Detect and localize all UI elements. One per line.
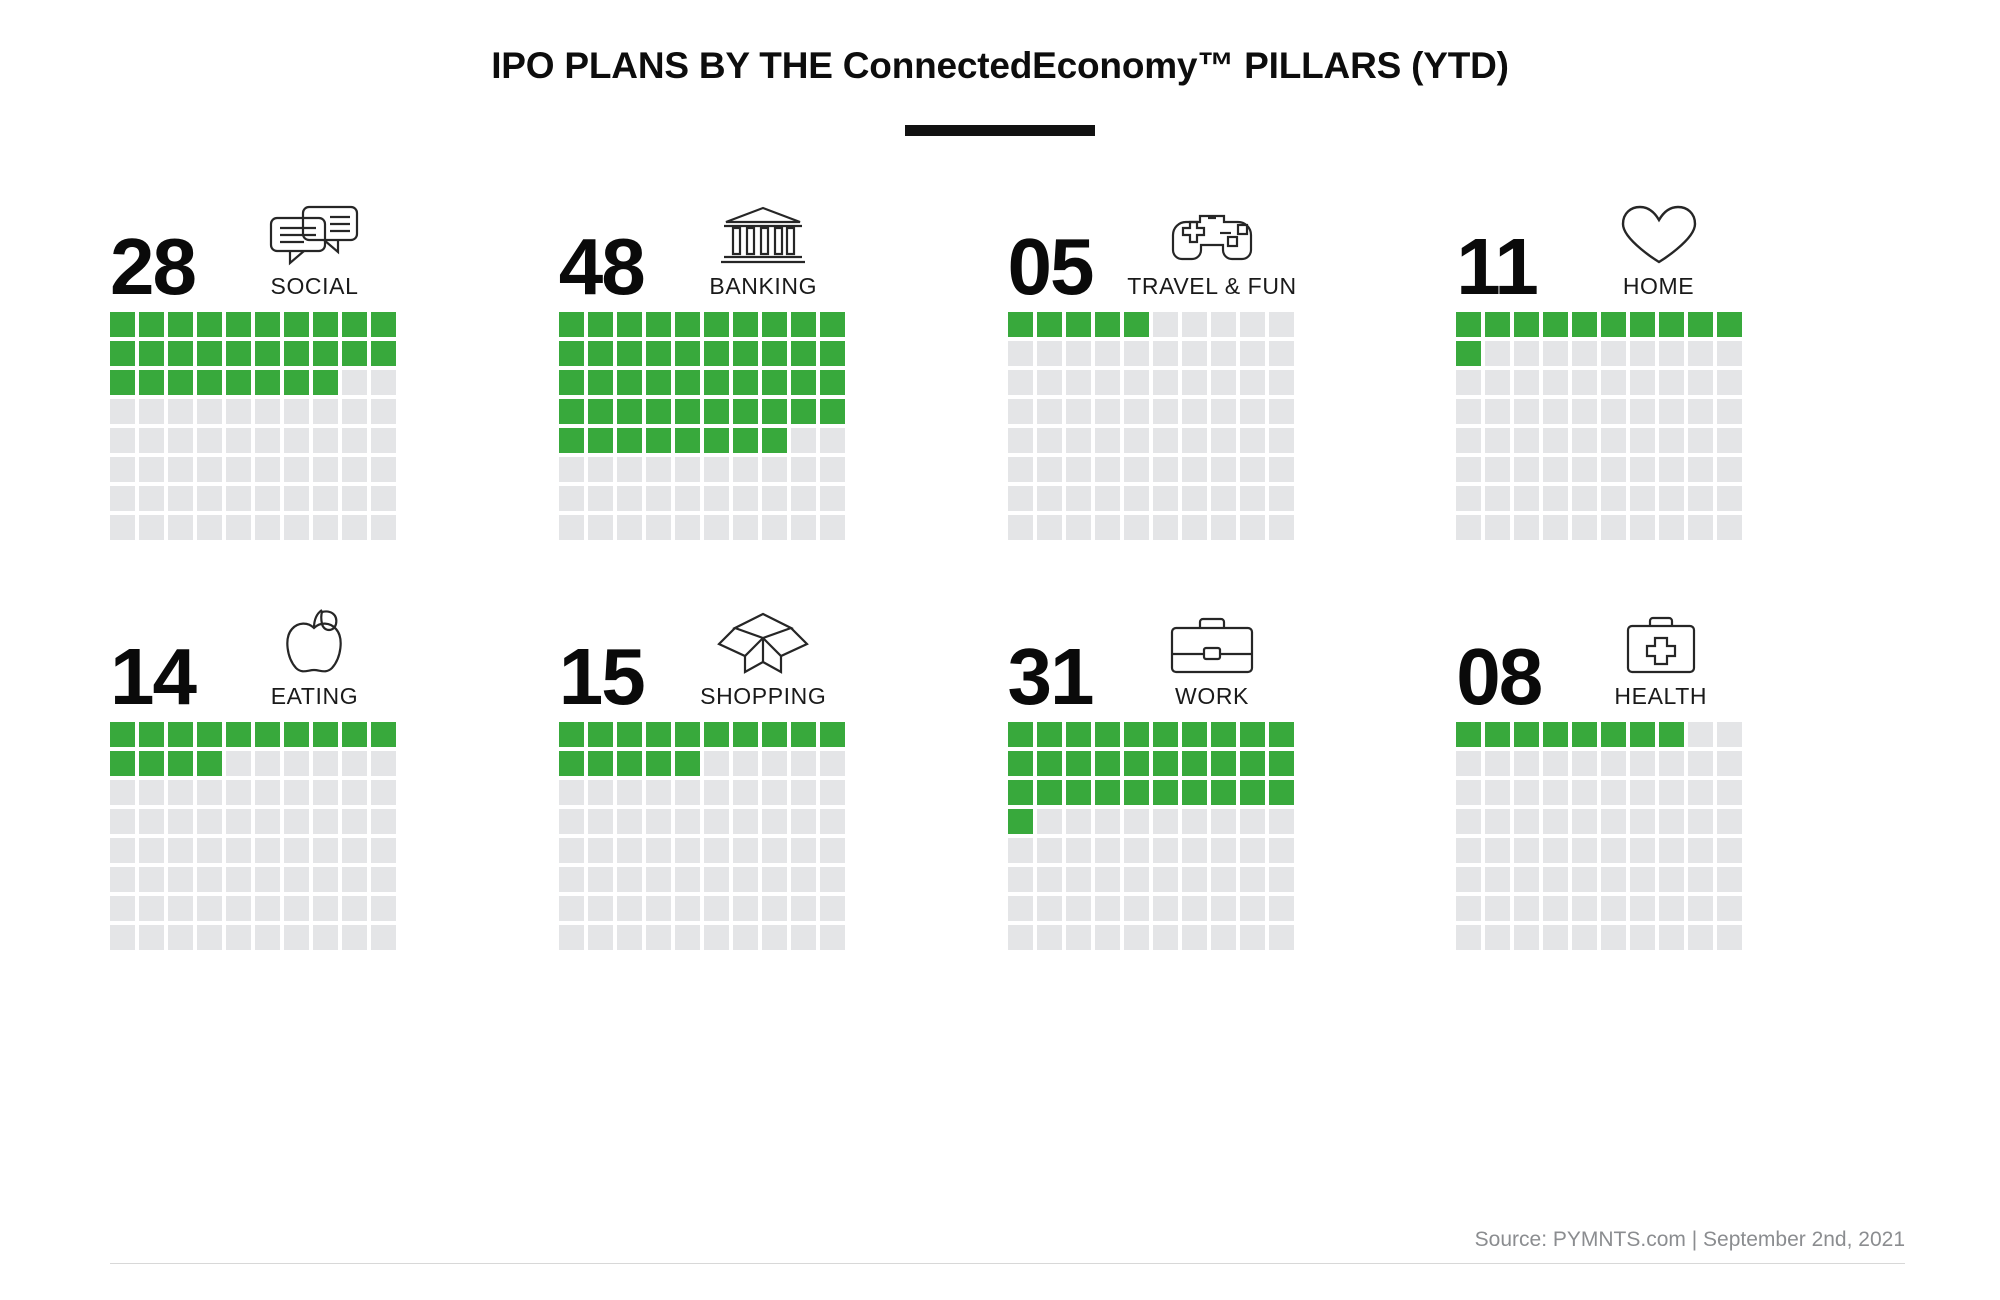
- waffle-cell-empty: [313, 751, 338, 776]
- waffle-cell-empty: [1269, 370, 1294, 395]
- waffle-cell-empty: [1095, 457, 1120, 482]
- waffle-cell-filled: [255, 370, 280, 395]
- waffle-cell-empty: [1456, 751, 1481, 776]
- waffle-cell-filled: [733, 399, 758, 424]
- waffle-cell-empty: [733, 751, 758, 776]
- waffle-cell-empty: [313, 896, 338, 921]
- waffle-cell-filled: [762, 399, 787, 424]
- waffle-cell-empty: [284, 751, 309, 776]
- waffle-cell-filled: [1211, 780, 1236, 805]
- waffle-cell-empty: [1630, 428, 1655, 453]
- waffle-cell-empty: [1717, 780, 1742, 805]
- waffle-cell-empty: [342, 457, 367, 482]
- waffle-cell-empty: [1240, 399, 1265, 424]
- waffle-cell-empty: [1211, 515, 1236, 540]
- waffle-cell-empty: [226, 515, 251, 540]
- waffle-cell-empty: [1124, 457, 1149, 482]
- waffle-cell-empty: [255, 457, 280, 482]
- waffle-cell-empty: [762, 838, 787, 863]
- waffle-cell-empty: [1008, 341, 1033, 366]
- waffle-cell-filled: [559, 428, 584, 453]
- waffle-cell-filled: [1543, 722, 1568, 747]
- waffle-cell-empty: [1124, 428, 1149, 453]
- waffle-cell-filled: [1514, 312, 1539, 337]
- waffle-grid-work: [1008, 722, 1318, 950]
- waffle-cell-empty: [226, 867, 251, 892]
- bank-building-icon: [720, 204, 806, 266]
- waffle-cell-filled: [313, 722, 338, 747]
- waffle-cell-empty: [559, 780, 584, 805]
- waffle-cell-empty: [1153, 809, 1178, 834]
- waffle-cell-empty: [284, 780, 309, 805]
- waffle-cell-filled: [168, 370, 193, 395]
- waffle-cell-empty: [1008, 486, 1033, 511]
- waffle-cell-empty: [1543, 809, 1568, 834]
- waffle-cell-empty: [1688, 751, 1713, 776]
- panel-identity: BANKING: [658, 204, 869, 300]
- panel-identity: SHOPPING: [658, 614, 869, 710]
- waffle-cell-empty: [284, 486, 309, 511]
- waffle-cell-empty: [1124, 809, 1149, 834]
- waffle-cell-filled: [168, 751, 193, 776]
- waffle-cell-filled: [371, 312, 396, 337]
- waffle-cell-empty: [1153, 370, 1178, 395]
- waffle-cell-empty: [704, 457, 729, 482]
- waffle-cell-empty: [1095, 341, 1120, 366]
- waffle-cell-empty: [820, 809, 845, 834]
- waffle-cell-filled: [646, 751, 671, 776]
- waffle-cell-empty: [1037, 925, 1062, 950]
- waffle-cell-filled: [1572, 722, 1597, 747]
- waffle-cell-empty: [1269, 399, 1294, 424]
- waffle-cell-filled: [762, 341, 787, 366]
- waffle-cell-empty: [284, 457, 309, 482]
- waffle-cell-filled: [762, 370, 787, 395]
- pillar-panels: 28: [0, 136, 2000, 950]
- waffle-cell-filled: [371, 341, 396, 366]
- panel-header: 15 SHOPPING: [559, 594, 869, 710]
- waffle-cell-empty: [1456, 809, 1481, 834]
- waffle-cell-empty: [820, 486, 845, 511]
- waffle-cell-empty: [1066, 428, 1091, 453]
- waffle-cell-empty: [342, 896, 367, 921]
- waffle-cell-empty: [1124, 486, 1149, 511]
- waffle-cell-empty: [226, 838, 251, 863]
- waffle-cell-filled: [675, 428, 700, 453]
- waffle-cell-empty: [1514, 399, 1539, 424]
- waffle-cell-empty: [197, 809, 222, 834]
- waffle-grid-shopping: [559, 722, 869, 950]
- waffle-cell-filled: [1066, 780, 1091, 805]
- waffle-cell-empty: [1543, 780, 1568, 805]
- waffle-cell-empty: [371, 457, 396, 482]
- waffle-cell-filled: [791, 312, 816, 337]
- waffle-cell-filled: [646, 370, 671, 395]
- waffle-cell-empty: [1601, 838, 1626, 863]
- waffle-cell-empty: [226, 399, 251, 424]
- waffle-cell-empty: [1717, 370, 1742, 395]
- waffle-cell-filled: [559, 341, 584, 366]
- waffle-cell-empty: [1485, 341, 1510, 366]
- waffle-cell-filled: [1008, 751, 1033, 776]
- waffle-cell-empty: [1269, 515, 1294, 540]
- waffle-cell-empty: [1066, 370, 1091, 395]
- waffle-cell-filled: [646, 722, 671, 747]
- waffle-cell-empty: [1485, 515, 1510, 540]
- waffle-cell-empty: [1066, 896, 1091, 921]
- waffle-cell-empty: [342, 370, 367, 395]
- waffle-cell-empty: [1182, 370, 1207, 395]
- waffle-cell-filled: [675, 751, 700, 776]
- waffle-cell-empty: [1514, 809, 1539, 834]
- waffle-cell-empty: [1601, 780, 1626, 805]
- waffle-cell-empty: [791, 428, 816, 453]
- waffle-cell-filled: [1211, 751, 1236, 776]
- waffle-cell-empty: [1630, 399, 1655, 424]
- waffle-cell-empty: [1211, 486, 1236, 511]
- waffle-cell-empty: [1601, 486, 1626, 511]
- waffle-cell-filled: [1630, 722, 1655, 747]
- waffle-cell-empty: [371, 838, 396, 863]
- waffle-cell-empty: [791, 780, 816, 805]
- waffle-cell-filled: [255, 312, 280, 337]
- pillar-panel-health: 08 HEALTH: [1456, 594, 1766, 950]
- waffle-cell-empty: [762, 867, 787, 892]
- waffle-cell-filled: [110, 341, 135, 366]
- waffle-cell-empty: [1211, 838, 1236, 863]
- waffle-cell-empty: [255, 867, 280, 892]
- waffle-cell-filled: [1037, 751, 1062, 776]
- pillar-value-health: 08: [1456, 644, 1541, 710]
- waffle-cell-filled: [168, 312, 193, 337]
- waffle-cell-filled: [559, 312, 584, 337]
- waffle-cell-empty: [139, 399, 164, 424]
- waffle-cell-empty: [1572, 809, 1597, 834]
- waffle-cell-empty: [1485, 457, 1510, 482]
- waffle-cell-empty: [588, 809, 613, 834]
- waffle-cell-filled: [226, 312, 251, 337]
- waffle-cell-filled: [226, 370, 251, 395]
- waffle-cell-empty: [1630, 780, 1655, 805]
- waffle-cell-filled: [588, 722, 613, 747]
- waffle-cell-empty: [1572, 370, 1597, 395]
- waffle-cell-filled: [646, 428, 671, 453]
- waffle-cell-filled: [110, 751, 135, 776]
- waffle-cell-empty: [1182, 515, 1207, 540]
- waffle-cell-empty: [1630, 925, 1655, 950]
- waffle-cell-empty: [820, 751, 845, 776]
- waffle-cell-empty: [1182, 867, 1207, 892]
- waffle-cell-filled: [1124, 312, 1149, 337]
- waffle-cell-empty: [1240, 515, 1265, 540]
- waffle-cell-empty: [820, 457, 845, 482]
- waffle-cell-empty: [1514, 867, 1539, 892]
- pillar-panel-travel-fun: 05 TRAVEL & FUN: [1008, 184, 1318, 540]
- waffle-cell-empty: [226, 780, 251, 805]
- waffle-cell-filled: [1182, 780, 1207, 805]
- waffle-cell-empty: [1659, 486, 1684, 511]
- waffle-cell-empty: [110, 780, 135, 805]
- waffle-cell-filled: [704, 370, 729, 395]
- waffle-cell-empty: [1240, 486, 1265, 511]
- waffle-cell-empty: [733, 780, 758, 805]
- waffle-cell-empty: [1124, 867, 1149, 892]
- waffle-cell-empty: [762, 925, 787, 950]
- waffle-cell-filled: [791, 722, 816, 747]
- waffle-cell-filled: [588, 341, 613, 366]
- waffle-cell-filled: [617, 341, 642, 366]
- waffle-cell-empty: [1543, 925, 1568, 950]
- waffle-cell-filled: [139, 370, 164, 395]
- waffle-cell-filled: [1066, 312, 1091, 337]
- waffle-cell-filled: [1095, 722, 1120, 747]
- waffle-cell-empty: [733, 867, 758, 892]
- waffle-cell-empty: [1688, 925, 1713, 950]
- panel-header: 28: [110, 184, 420, 300]
- waffle-cell-filled: [1095, 780, 1120, 805]
- pillar-value-travel-fun: 05: [1008, 234, 1093, 300]
- game-controller-icon: [1170, 204, 1254, 266]
- apple-icon: [278, 614, 350, 676]
- waffle-cell-empty: [762, 486, 787, 511]
- waffle-cell-empty: [646, 486, 671, 511]
- waffle-cell-empty: [168, 780, 193, 805]
- waffle-cell-filled: [1456, 341, 1481, 366]
- waffle-cell-empty: [559, 486, 584, 511]
- waffle-cell-filled: [762, 312, 787, 337]
- waffle-cell-empty: [1037, 809, 1062, 834]
- waffle-cell-empty: [675, 486, 700, 511]
- waffle-cell-empty: [733, 925, 758, 950]
- waffle-cell-empty: [1485, 428, 1510, 453]
- waffle-cell-filled: [675, 370, 700, 395]
- pillar-panel-work: 31 WORK: [1008, 594, 1318, 950]
- waffle-cell-filled: [675, 399, 700, 424]
- waffle-cell-empty: [1659, 399, 1684, 424]
- pillar-value-shopping: 15: [559, 644, 644, 710]
- waffle-cell-empty: [255, 896, 280, 921]
- waffle-cell-empty: [139, 925, 164, 950]
- waffle-cell-empty: [1688, 809, 1713, 834]
- waffle-cell-filled: [559, 370, 584, 395]
- waffle-cell-empty: [617, 896, 642, 921]
- waffle-cell-filled: [1095, 312, 1120, 337]
- waffle-cell-filled: [255, 722, 280, 747]
- waffle-cell-empty: [255, 486, 280, 511]
- panel-identity: TRAVEL & FUN: [1106, 204, 1317, 300]
- waffle-cell-empty: [1153, 399, 1178, 424]
- waffle-cell-empty: [1008, 515, 1033, 540]
- waffle-cell-empty: [342, 751, 367, 776]
- waffle-cell-empty: [168, 896, 193, 921]
- waffle-cell-filled: [1008, 722, 1033, 747]
- briefcase-icon: [1168, 614, 1256, 676]
- waffle-cell-empty: [168, 925, 193, 950]
- waffle-cell-empty: [1182, 809, 1207, 834]
- waffle-grid-home: [1456, 312, 1766, 540]
- waffle-cell-filled: [1066, 751, 1091, 776]
- waffle-cell-empty: [675, 780, 700, 805]
- waffle-cell-empty: [197, 457, 222, 482]
- waffle-cell-empty: [1688, 341, 1713, 366]
- waffle-cell-filled: [197, 722, 222, 747]
- waffle-cell-empty: [1456, 457, 1481, 482]
- pillar-panel-home: 11 HOME: [1456, 184, 1766, 540]
- panel-header: 31 WORK: [1008, 594, 1318, 710]
- waffle-cell-empty: [1095, 867, 1120, 892]
- waffle-cell-filled: [733, 341, 758, 366]
- waffle-cell-empty: [762, 457, 787, 482]
- waffle-cell-empty: [617, 515, 642, 540]
- waffle-cell-empty: [1066, 399, 1091, 424]
- waffle-cell-empty: [646, 867, 671, 892]
- waffle-cell-empty: [1269, 896, 1294, 921]
- waffle-cell-empty: [1456, 867, 1481, 892]
- waffle-cell-filled: [1240, 722, 1265, 747]
- waffle-cell-empty: [791, 751, 816, 776]
- waffle-cell-empty: [1037, 370, 1062, 395]
- waffle-cell-empty: [197, 486, 222, 511]
- waffle-cell-filled: [1124, 780, 1149, 805]
- waffle-cell-empty: [284, 428, 309, 453]
- waffle-cell-empty: [1630, 515, 1655, 540]
- waffle-cell-empty: [1717, 341, 1742, 366]
- waffle-cell-empty: [1601, 896, 1626, 921]
- waffle-cell-empty: [110, 838, 135, 863]
- waffle-cell-empty: [675, 457, 700, 482]
- waffle-cell-empty: [168, 809, 193, 834]
- panel-identity: SOCIAL: [209, 204, 420, 300]
- waffle-cell-empty: [791, 838, 816, 863]
- waffle-cell-empty: [284, 867, 309, 892]
- waffle-cell-empty: [1630, 867, 1655, 892]
- waffle-cell-empty: [139, 486, 164, 511]
- waffle-cell-filled: [1269, 751, 1294, 776]
- waffle-cell-empty: [1456, 838, 1481, 863]
- waffle-cell-filled: [791, 399, 816, 424]
- waffle-cell-empty: [1066, 838, 1091, 863]
- waffle-cell-filled: [1572, 312, 1597, 337]
- waffle-cell-empty: [1543, 457, 1568, 482]
- waffle-cell-empty: [1124, 370, 1149, 395]
- waffle-cell-filled: [559, 751, 584, 776]
- waffle-cell-empty: [1572, 896, 1597, 921]
- waffle-cell-empty: [1485, 896, 1510, 921]
- waffle-cell-empty: [1572, 515, 1597, 540]
- waffle-cell-filled: [139, 751, 164, 776]
- waffle-cell-filled: [1717, 312, 1742, 337]
- waffle-cell-empty: [1659, 428, 1684, 453]
- open-box-icon: [715, 614, 811, 676]
- waffle-cell-empty: [1601, 370, 1626, 395]
- waffle-cell-empty: [197, 428, 222, 453]
- header: IPO PLANS BY THE ConnectedEconomy™ PILLA…: [0, 0, 2000, 136]
- waffle-cell-filled: [313, 341, 338, 366]
- waffle-cell-empty: [197, 867, 222, 892]
- pillar-panel-banking: 48: [559, 184, 869, 540]
- waffle-cell-empty: [226, 896, 251, 921]
- waffle-cell-empty: [371, 428, 396, 453]
- waffle-cell-empty: [559, 896, 584, 921]
- waffle-cell-empty: [1630, 370, 1655, 395]
- waffle-cell-filled: [617, 370, 642, 395]
- waffle-cell-empty: [1601, 867, 1626, 892]
- waffle-cell-empty: [110, 896, 135, 921]
- waffle-cell-empty: [1095, 809, 1120, 834]
- waffle-cell-empty: [617, 838, 642, 863]
- waffle-cell-filled: [168, 722, 193, 747]
- waffle-cell-empty: [1269, 867, 1294, 892]
- waffle-cell-filled: [1456, 312, 1481, 337]
- footer: Source: PYMNTS.com | September 2nd, 2021: [110, 1228, 1905, 1264]
- waffle-cell-filled: [617, 722, 642, 747]
- waffle-cell-empty: [1008, 867, 1033, 892]
- waffle-cell-empty: [168, 486, 193, 511]
- waffle-cell-empty: [110, 457, 135, 482]
- waffle-cell-empty: [110, 486, 135, 511]
- pillar-value-home: 11: [1456, 234, 1537, 300]
- waffle-cell-empty: [168, 838, 193, 863]
- waffle-cell-filled: [1124, 751, 1149, 776]
- waffle-cell-empty: [1211, 428, 1236, 453]
- waffle-grid-eating: [110, 722, 420, 950]
- chat-bubbles-icon: [268, 204, 360, 266]
- waffle-cell-empty: [1240, 312, 1265, 337]
- waffle-cell-empty: [1717, 751, 1742, 776]
- waffle-cell-empty: [1630, 341, 1655, 366]
- waffle-cell-empty: [1182, 486, 1207, 511]
- waffle-cell-empty: [733, 515, 758, 540]
- waffle-cell-empty: [1514, 751, 1539, 776]
- waffle-cell-empty: [1717, 399, 1742, 424]
- waffle-cell-empty: [1182, 838, 1207, 863]
- waffle-cell-empty: [1543, 751, 1568, 776]
- waffle-cell-empty: [226, 809, 251, 834]
- waffle-cell-empty: [559, 457, 584, 482]
- waffle-cell-empty: [1269, 428, 1294, 453]
- waffle-cell-empty: [820, 896, 845, 921]
- waffle-cell-filled: [1659, 312, 1684, 337]
- waffle-cell-empty: [342, 399, 367, 424]
- waffle-cell-empty: [371, 751, 396, 776]
- pillar-label-social: SOCIAL: [271, 273, 359, 300]
- waffle-cell-empty: [675, 867, 700, 892]
- waffle-cell-empty: [762, 515, 787, 540]
- waffle-cell-empty: [110, 428, 135, 453]
- waffle-cell-filled: [371, 722, 396, 747]
- waffle-cell-empty: [1485, 370, 1510, 395]
- waffle-cell-empty: [371, 399, 396, 424]
- waffle-cell-empty: [559, 867, 584, 892]
- waffle-cell-empty: [1124, 341, 1149, 366]
- waffle-cell-empty: [704, 809, 729, 834]
- waffle-cell-filled: [1659, 722, 1684, 747]
- waffle-cell-empty: [1572, 399, 1597, 424]
- waffle-cell-empty: [1456, 515, 1481, 540]
- waffle-cell-empty: [1095, 896, 1120, 921]
- waffle-cell-empty: [559, 809, 584, 834]
- waffle-cell-empty: [342, 780, 367, 805]
- waffle-cell-empty: [1240, 341, 1265, 366]
- pillar-label-banking: BANKING: [709, 273, 817, 300]
- waffle-cell-filled: [197, 341, 222, 366]
- waffle-cell-empty: [139, 428, 164, 453]
- waffle-cell-empty: [1066, 341, 1091, 366]
- pillar-value-social: 28: [110, 234, 195, 300]
- waffle-cell-empty: [1688, 428, 1713, 453]
- waffle-cell-empty: [646, 780, 671, 805]
- waffle-cell-empty: [1456, 399, 1481, 424]
